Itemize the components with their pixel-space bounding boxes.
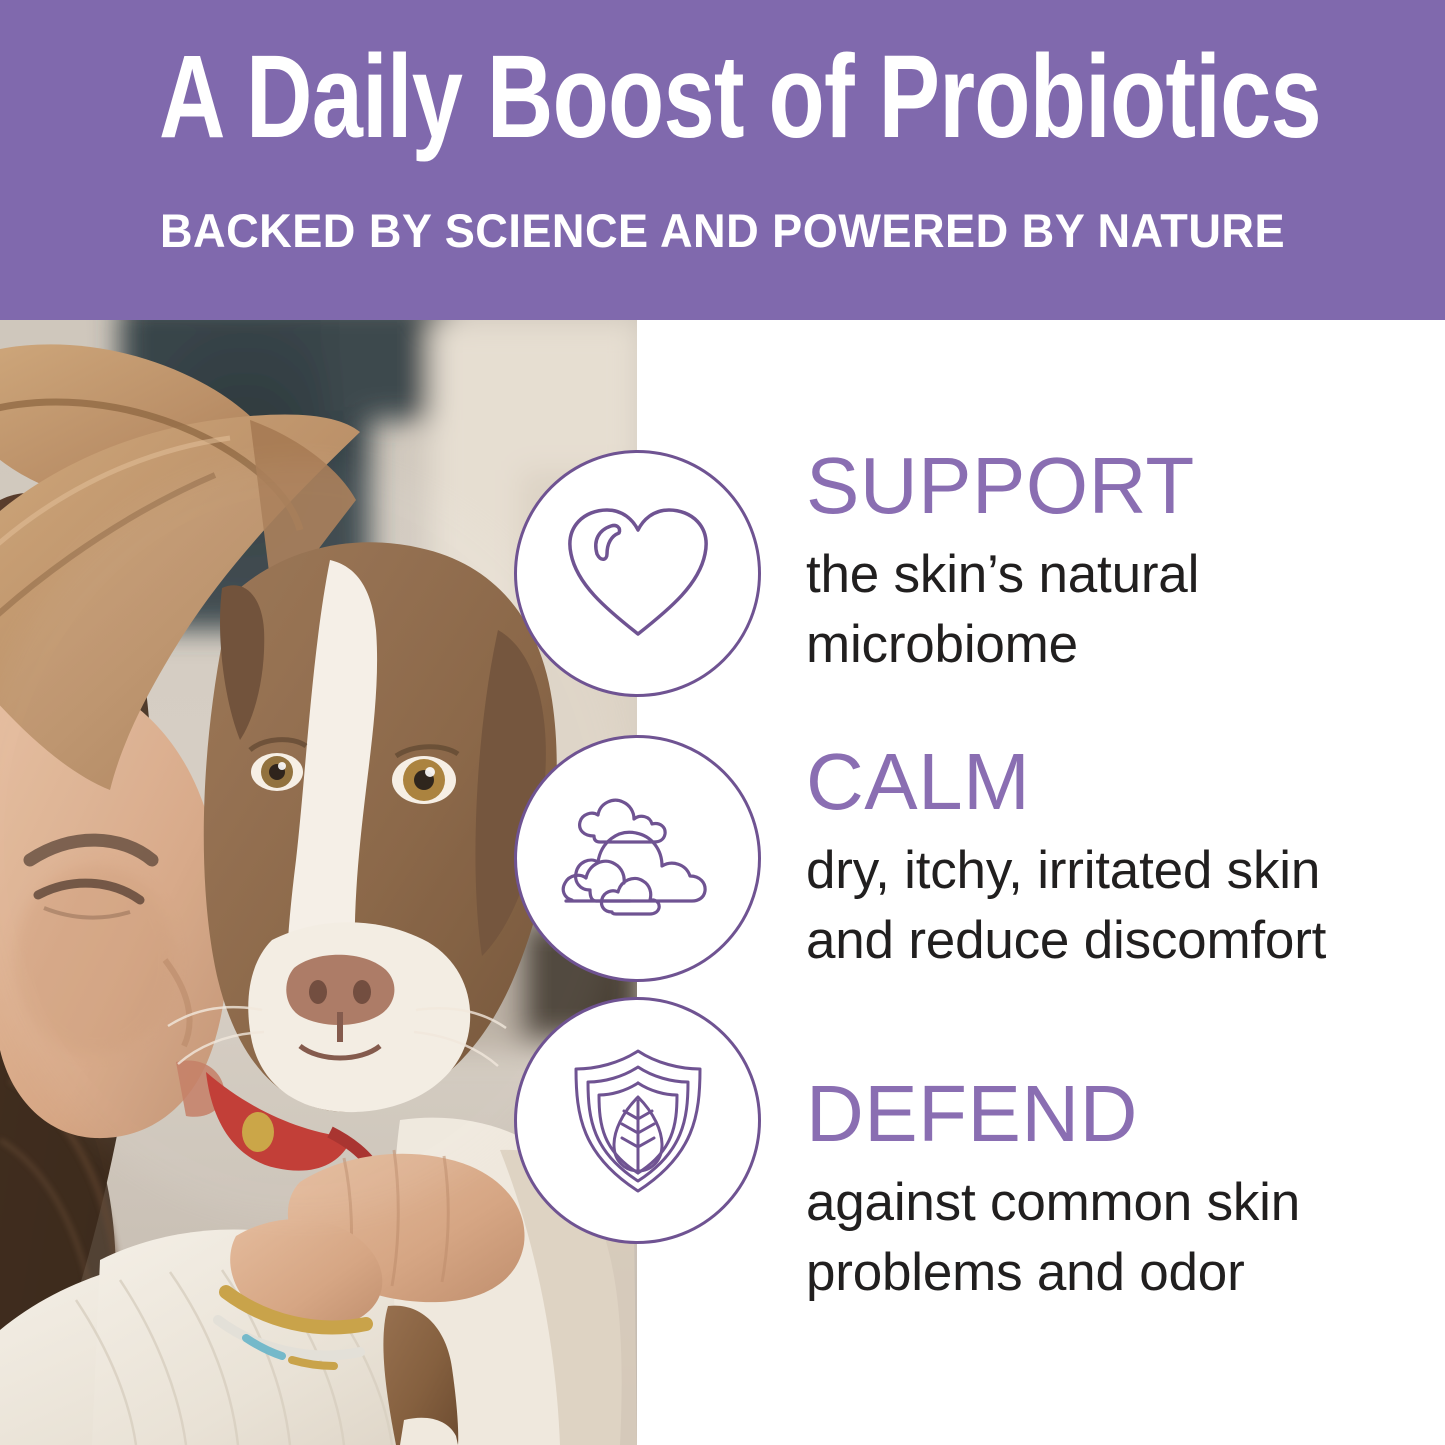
benefit-block-support: SUPPORT the skin’s natural microbiome <box>806 444 1426 680</box>
header-banner: A Daily Boost of Probiotics BACKED BY SC… <box>0 0 1445 320</box>
product-benefits-poster: A Daily Boost of Probiotics BACKED BY SC… <box>0 0 1445 1445</box>
benefit-body-support: the skin’s natural microbiome <box>806 540 1426 680</box>
benefit-body-defend: against common skin problems and odor <box>806 1168 1426 1308</box>
poster-subtitle: BACKED BY SCIENCE AND POWERED BY NATURE <box>29 204 1416 258</box>
benefit-body-line: problems and odor <box>806 1238 1426 1308</box>
benefit-body-line: dry, itchy, irritated skin <box>806 836 1426 906</box>
benefit-body-line: against common skin <box>806 1168 1426 1238</box>
heart-icon <box>563 504 713 644</box>
benefit-heading-calm: CALM <box>806 740 1426 824</box>
benefit-block-calm: CALM dry, itchy, irritated skin and redu… <box>806 740 1426 976</box>
benefit-block-defend: DEFEND against common skin problems and … <box>806 1072 1426 1308</box>
poster-title: A Daily Boost of Probiotics <box>159 36 1286 158</box>
clouds-icon <box>560 794 716 924</box>
benefit-body-line: the skin’s natural <box>806 540 1426 610</box>
benefit-icon-circle-calm <box>514 735 761 982</box>
benefit-heading-defend: DEFEND <box>806 1072 1426 1156</box>
shield-leaf-icon <box>568 1045 708 1197</box>
benefit-body-line: microbiome <box>806 610 1426 680</box>
benefit-icon-circle-defend <box>514 997 761 1244</box>
benefit-body-calm: dry, itchy, irritated skin and reduce di… <box>806 836 1426 976</box>
benefit-icon-circle-support <box>514 450 761 697</box>
benefit-heading-support: SUPPORT <box>806 444 1426 528</box>
benefit-body-line: and reduce discomfort <box>806 906 1426 976</box>
